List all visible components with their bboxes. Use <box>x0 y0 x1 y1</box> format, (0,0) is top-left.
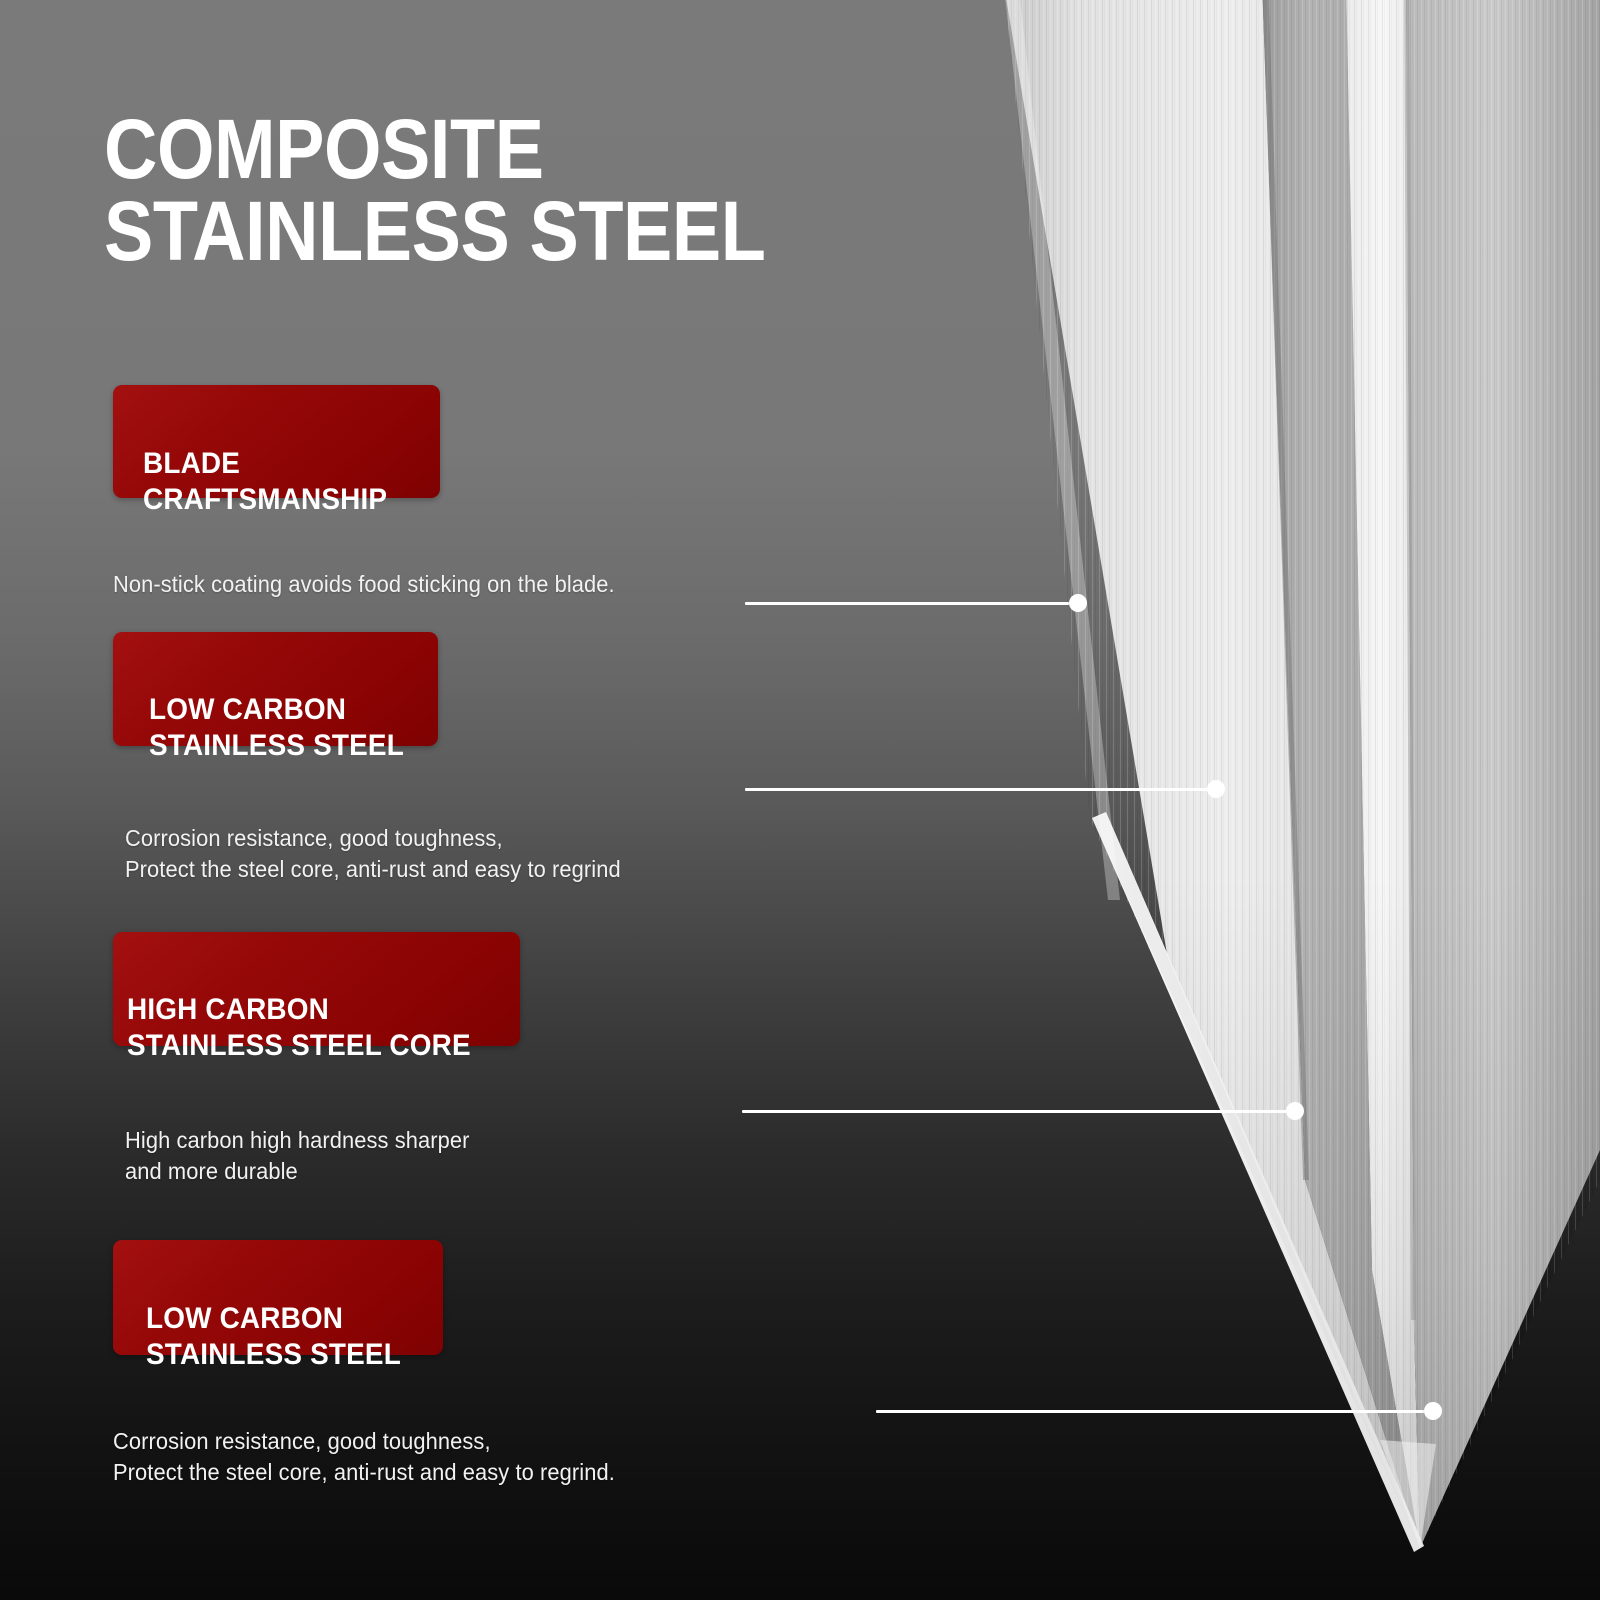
infographic-canvas: COMPOSITE STAINLESS STEEL BLADE CRAFTSMA… <box>0 0 1600 1600</box>
leader-line-bar <box>745 602 1069 605</box>
page-title: COMPOSITE STAINLESS STEEL <box>104 108 861 273</box>
badge-blade-craftsmanship: BLADE CRAFTSMANSHIP <box>113 385 440 498</box>
blade-body <box>960 0 1600 1600</box>
badge-label: LOW CARBON STAINLESS STEEL <box>146 1301 422 1372</box>
feature-description: Corrosion resistance, good toughness, Pr… <box>125 823 621 884</box>
feature-description: Non-stick coating avoids food sticking o… <box>113 569 615 600</box>
leader-line-dot <box>1207 780 1225 798</box>
leader-line-dot <box>1069 594 1087 612</box>
feature-block-blade-craftsmanship: BLADE CRAFTSMANSHIP Non-stick coating av… <box>113 385 641 600</box>
leader-line-bar <box>742 1110 1286 1113</box>
badge-low-carbon-stainless-steel-2: LOW CARBON STAINLESS STEEL <box>113 1240 443 1355</box>
leader-line-dot <box>1286 1102 1304 1120</box>
feature-block-low-carbon-outer: LOW CARBON STAINLESS STEEL Corrosion res… <box>113 632 647 884</box>
leader-low-carbon-inner <box>876 1402 1442 1420</box>
feature-block-low-carbon-inner: LOW CARBON STAINLESS STEEL Corrosion res… <box>113 1240 641 1487</box>
leader-low-carbon-outer <box>745 780 1225 798</box>
leader-line-dot <box>1424 1402 1442 1420</box>
feature-description: High carbon high hardness sharper and mo… <box>125 1125 500 1186</box>
badge-high-carbon-stainless-steel-core: HIGH CARBON STAINLESS STEEL CORE <box>113 932 520 1046</box>
leader-line-bar <box>876 1410 1424 1413</box>
leader-high-carbon-core <box>742 1102 1304 1120</box>
feature-block-high-carbon-core: HIGH CARBON STAINLESS STEEL CORE High ca… <box>113 932 520 1186</box>
badge-label: BLADE CRAFTSMANSHIP <box>143 446 419 517</box>
badge-label: HIGH CARBON STAINLESS STEEL CORE <box>127 992 492 1063</box>
badge-low-carbon-stainless-steel: LOW CARBON STAINLESS STEEL <box>113 632 438 746</box>
leader-line-bar <box>745 788 1207 791</box>
feature-description: Corrosion resistance, good toughness, Pr… <box>113 1426 615 1487</box>
leader-blade-craftsmanship <box>745 594 1087 612</box>
badge-label: LOW CARBON STAINLESS STEEL <box>149 692 418 763</box>
